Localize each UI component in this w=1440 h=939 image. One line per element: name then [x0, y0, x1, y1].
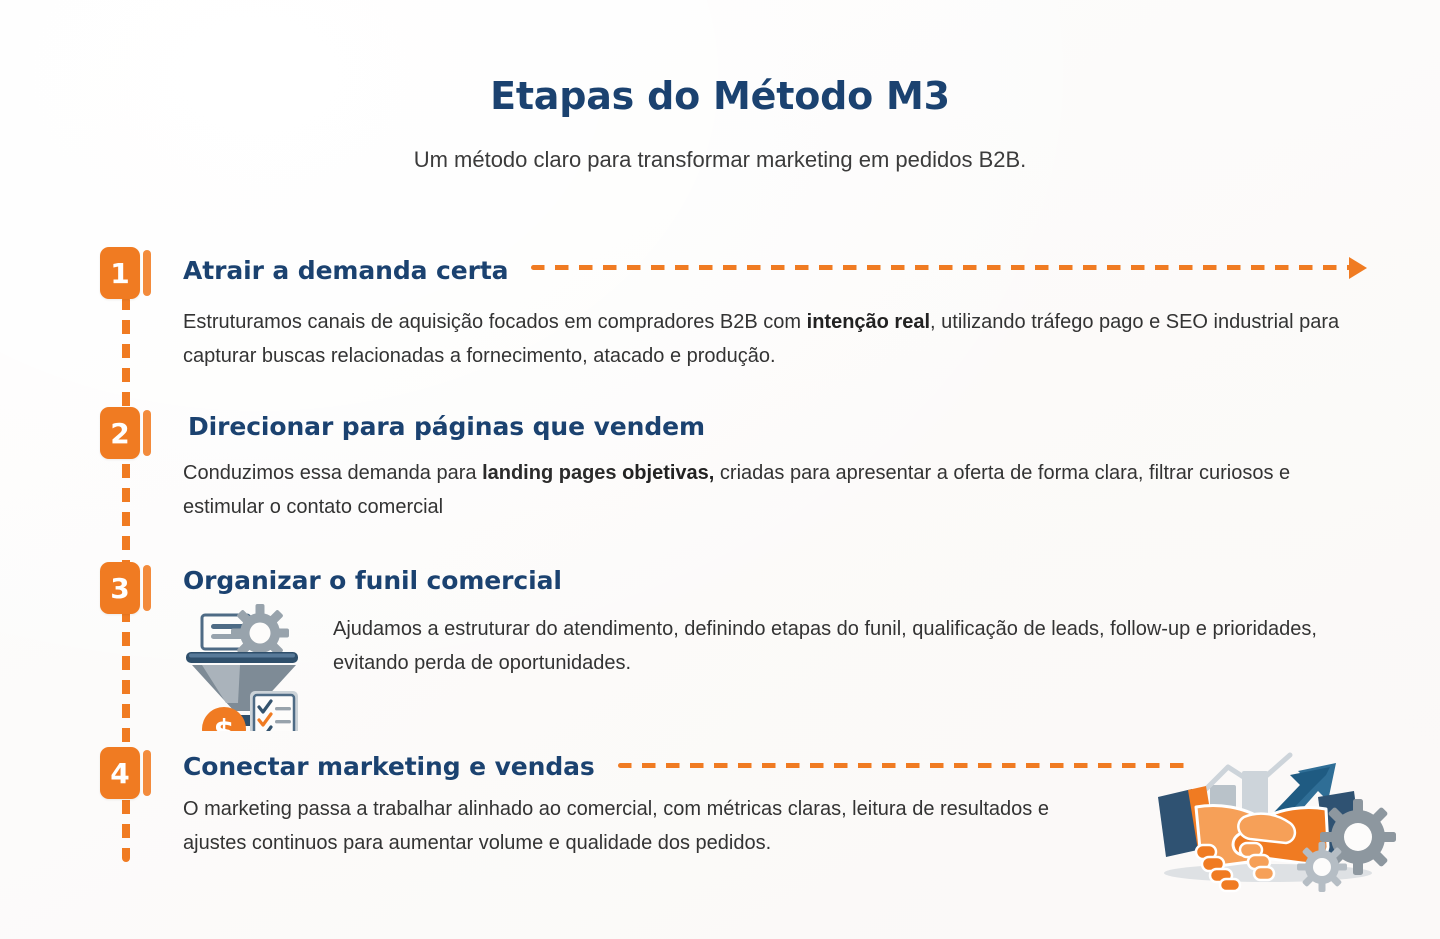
step-badge-4: 4 [100, 747, 148, 799]
step-body-part: Conduzimos essa demanda para [183, 462, 482, 484]
step-title-4: Conectar marketing e vendas [183, 752, 595, 781]
step-connector-4 [618, 763, 1190, 768]
step-body-part: O marketing passa a trabalhar alinhado a… [183, 798, 1049, 854]
step-body-4: O marketing passa a trabalhar alinhado a… [183, 792, 1113, 860]
badge-tab [143, 410, 151, 456]
step-title-3: Organizar o funil comercial [183, 566, 562, 595]
step-body-emphasis: objetivas, [622, 462, 714, 484]
page-title: Etapas do Método M3 [0, 74, 1440, 118]
sales-funnel-icon: $ [180, 603, 308, 736]
step-body-1: Estruturamos canais de aquisição focados… [183, 305, 1353, 373]
page-subtitle: Um método claro para transformar marketi… [0, 147, 1440, 173]
badge-number: 3 [100, 562, 140, 614]
step-badge-3: 3 [100, 562, 148, 614]
badge-tab [143, 250, 151, 296]
handshake-growth-icon [1140, 745, 1420, 900]
step-body-2: Conduzimos essa demanda para landing pag… [183, 456, 1358, 524]
step-title-1: Atrair a demanda certa [183, 256, 508, 285]
badge-number: 1 [100, 247, 140, 299]
infographic-canvas: Etapas do Método M3 Um método claro para… [0, 0, 1440, 939]
step-connector-arrow-1 [1349, 257, 1367, 279]
badge-number: 4 [100, 747, 140, 799]
step-body-part: Estruturamos canais de aquisição focados… [183, 311, 807, 333]
svg-text:$: $ [214, 714, 235, 731]
step-body-3: Ajudamos a estruturar do atendimento, de… [333, 612, 1343, 680]
step-body-semibold: landing pages [482, 462, 622, 484]
badge-number: 2 [100, 407, 140, 459]
step-badge-2: 2 [100, 407, 148, 459]
step-connector-1 [531, 265, 1351, 270]
step-title-2: Direcionar para páginas que vendem [188, 412, 705, 441]
badge-tab [143, 565, 151, 611]
step-body-part: Ajudamos a estruturar do atendimento, de… [333, 618, 1317, 674]
badge-tab [143, 750, 151, 796]
step-body-emphasis: intenção real [807, 311, 930, 333]
step-badge-1: 1 [100, 247, 148, 299]
